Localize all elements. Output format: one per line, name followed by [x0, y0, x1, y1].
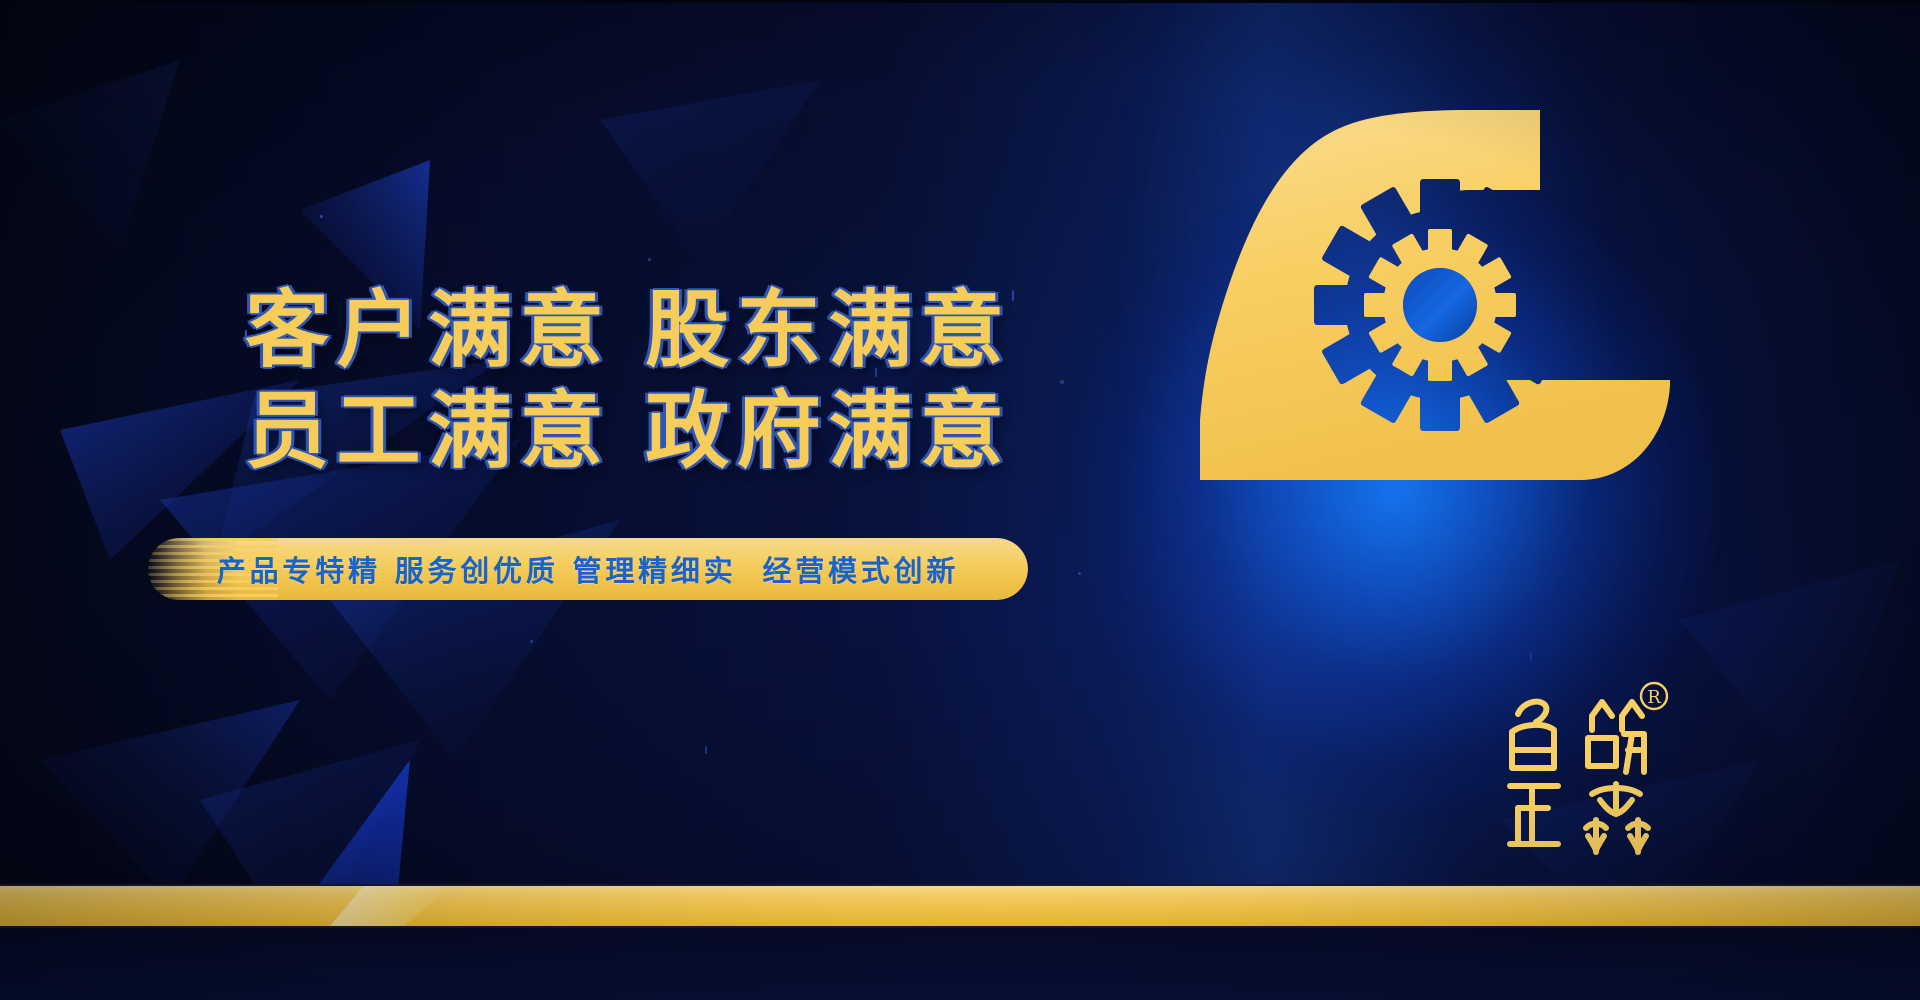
background-vignette: [0, 0, 1920, 1000]
top-edge-line: [0, 0, 1920, 3]
banner-canvas: 客户满意股东满意 员工满意政府满意 产品专特精服务创优质管理精细实经营模式创新: [0, 0, 1920, 1000]
